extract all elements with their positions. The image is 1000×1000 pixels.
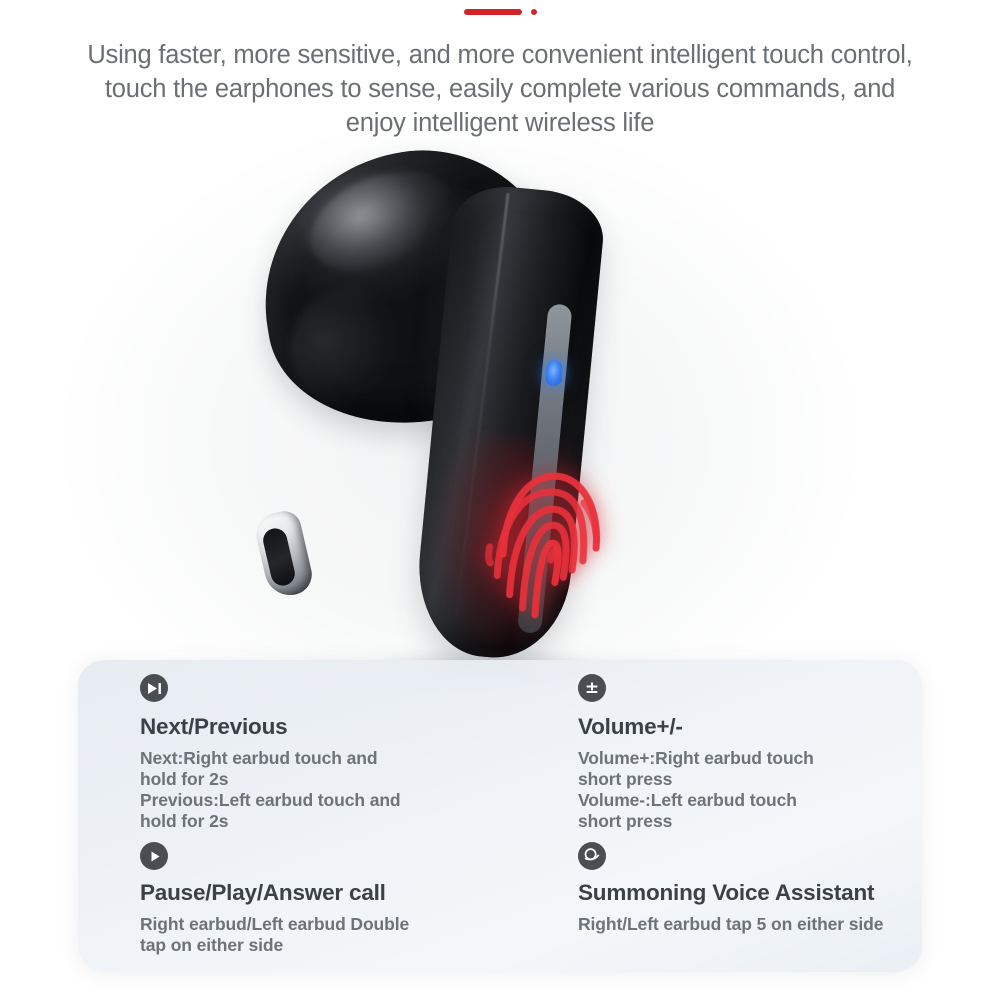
control-item-next-previous: Next/Previous Next:Right earbud touch an…	[78, 660, 526, 842]
control-title: Pause/Play/Answer call	[140, 880, 386, 906]
fingerprint-icon	[477, 435, 623, 636]
control-item-pause-play: Pause/Play/Answer call Right earbud/Left…	[78, 842, 526, 972]
headline-line-1: Using faster, more sensitive, and more c…	[40, 38, 960, 72]
earbud-illustration	[255, 140, 675, 740]
red-accent-bar	[464, 9, 522, 15]
headline: Using faster, more sensitive, and more c…	[40, 38, 960, 140]
control-title: Next/Previous	[140, 714, 287, 740]
plus-minus-glyph: ±	[585, 680, 599, 697]
control-title: Summoning Voice Assistant	[578, 880, 874, 906]
accent-marker	[0, 9, 1000, 15]
product-feature-image: Using faster, more sensitive, and more c…	[0, 0, 1000, 1000]
skip-next-glyph	[147, 682, 162, 695]
control-item-voice-assistant: Summoning Voice Assistant Right/Left ear…	[526, 842, 922, 972]
voice-assistant-icon	[578, 842, 606, 870]
control-body: Right/Left earbud tap 5 on either side	[578, 914, 883, 935]
headline-line-2: touch the earphones to sense, easily com…	[40, 72, 960, 106]
voice-assistant-glyph	[582, 846, 602, 866]
headline-line-3: enjoy intelligent wireless life	[40, 106, 960, 140]
red-accent-dot	[531, 9, 537, 15]
skip-next-icon	[140, 674, 168, 702]
volume-plus-minus-icon: ±	[578, 674, 606, 702]
control-body: Next:Right earbud touch and hold for 2s …	[140, 748, 401, 832]
control-body: Volume+:Right earbud touch short press V…	[578, 748, 814, 832]
play-glyph	[148, 850, 161, 863]
touch-controls-grid: Next/Previous Next:Right earbud touch an…	[78, 660, 922, 972]
control-title: Volume+/-	[578, 714, 683, 740]
control-item-volume: ± Volume+/- Volume+:Right earbud touch s…	[526, 660, 922, 842]
play-icon	[140, 842, 168, 870]
control-body: Right earbud/Left earbud Double tap on e…	[140, 914, 409, 956]
